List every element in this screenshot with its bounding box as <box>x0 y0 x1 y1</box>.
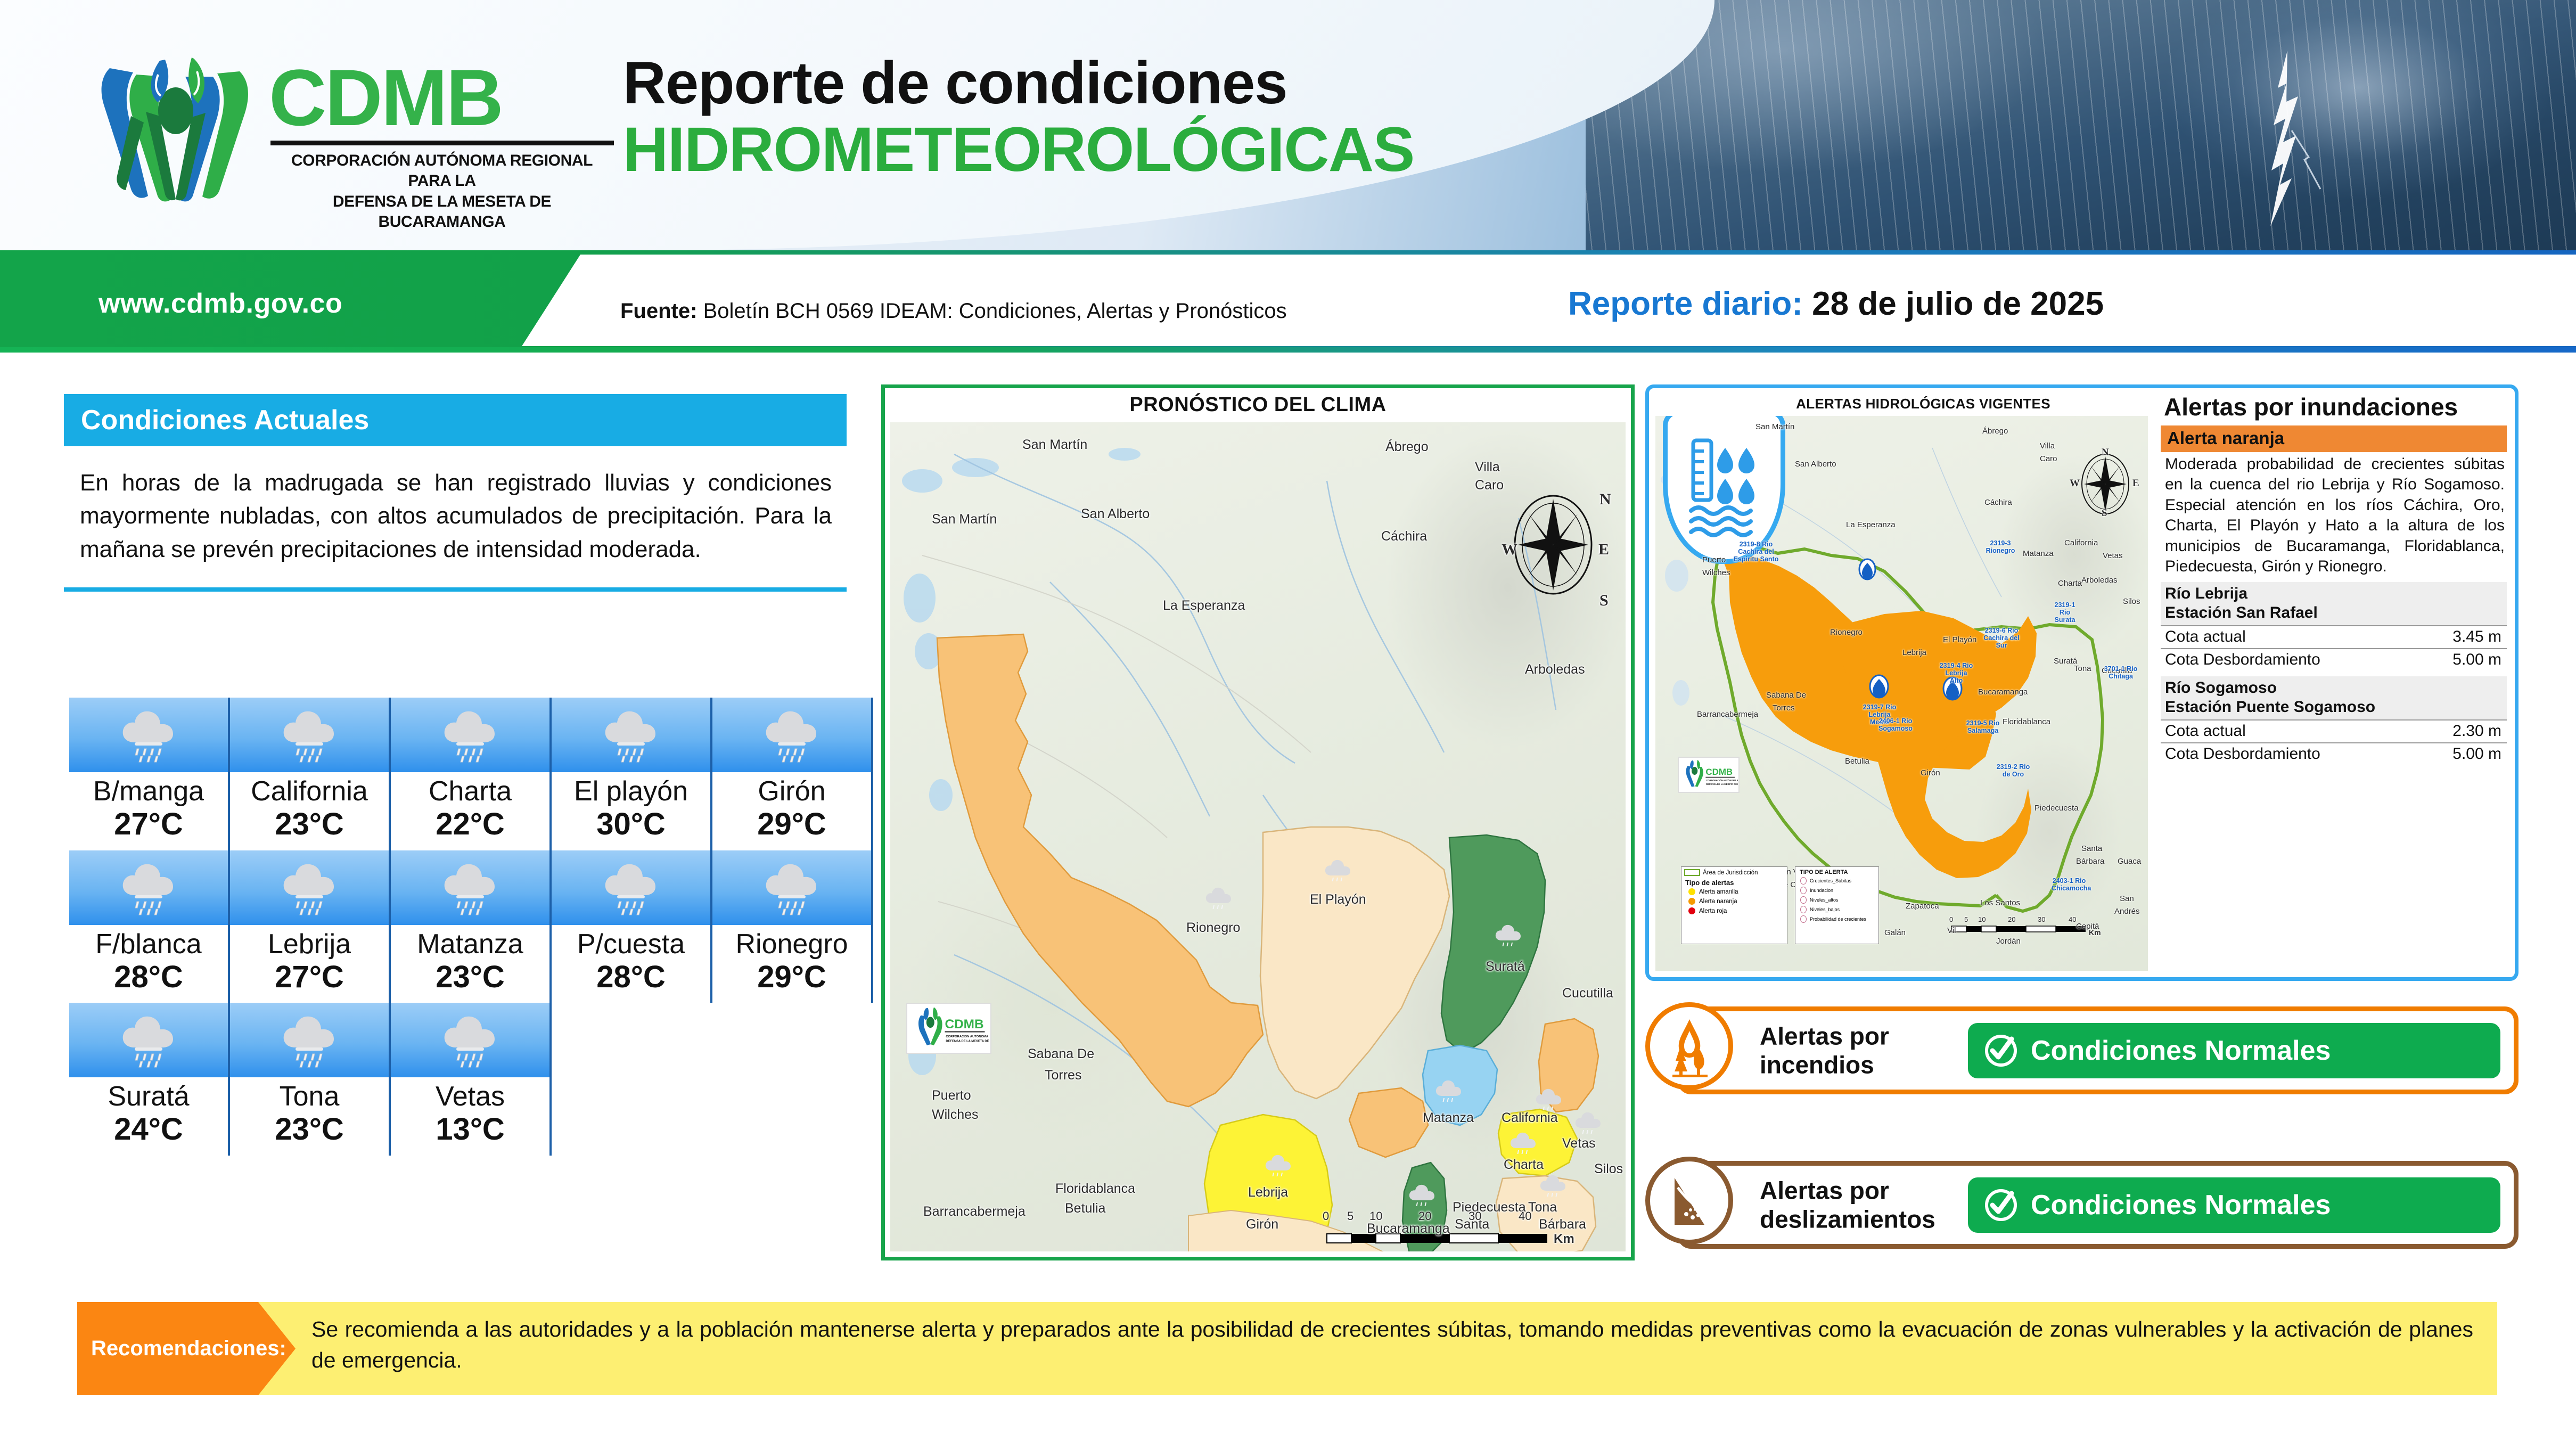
check-circle-icon <box>1982 1186 2020 1224</box>
map-scale-label: 5 <box>1347 1209 1353 1223</box>
map-label: Vetas <box>1562 1136 1596 1151</box>
river-code-label: 2319-4 Rio Lebrija Alto <box>1939 662 1974 684</box>
temperature-cell: Rionegro 29°C <box>712 850 873 1003</box>
compass-north-label: N <box>1599 490 1611 509</box>
map-label: Bucaramanga <box>1367 1221 1450 1237</box>
title-line-1: Reporte de condiciones <box>623 51 1414 116</box>
map-scale-label: 5 <box>1964 915 1968 923</box>
current-conditions-text: En horas de la madrugada se han registra… <box>64 446 847 579</box>
map-label: El Playón <box>1943 635 1976 644</box>
map-scale-label: 40 <box>2069 915 2076 923</box>
map-rain-icon <box>1493 923 1524 951</box>
current-conditions-header: Condiciones Actuales <box>64 394 847 446</box>
temperature-value: 23°C <box>232 1111 387 1148</box>
temperature-grid: B/manga 27°C California 23°C Charta 22°C… <box>69 698 873 1156</box>
station-row: Cota actual 2.30 m <box>2161 719 2507 742</box>
map-label: Silos <box>2123 597 2140 606</box>
map-rain-icon <box>1573 1110 1604 1138</box>
map-label: Matanza <box>1423 1110 1474 1126</box>
row-value: 5.00 m <box>2452 745 2501 763</box>
row-label: Cota Desbordamiento <box>2165 745 2320 763</box>
svg-text:CDMB: CDMB <box>945 1017 984 1032</box>
river-code-label: 3701-1 Rio Chitaga <box>2104 665 2138 680</box>
rain-cloud-icon <box>440 1012 500 1068</box>
temperature-cell-empty <box>552 1003 712 1156</box>
weather-icon-box <box>552 698 712 772</box>
row-label: Cota actual <box>2165 628 2246 646</box>
municipality-name: P/cuesta <box>554 929 708 959</box>
weather-icon-box <box>230 850 391 925</box>
temperature-cell: Vetas 13°C <box>391 1003 552 1156</box>
temperature-cell: Charta 22°C <box>391 698 552 850</box>
map-scale-label: 10 <box>1369 1209 1382 1223</box>
fire-forest-icon <box>1665 1015 1714 1078</box>
map-label: Charta <box>1504 1157 1544 1173</box>
row-value: 2.30 m <box>2452 722 2501 740</box>
landslide-icon <box>1665 1169 1714 1232</box>
temperature-value: 28°C <box>554 959 708 995</box>
legend-swatch-red <box>1688 907 1695 914</box>
hydro-legend-alert-kinds: TIPO DE ALERTA Crecientes_Súbitas Inunda… <box>1795 866 1879 944</box>
map-rain-icon <box>1533 1087 1564 1115</box>
map-rain-icon <box>1538 1173 1569 1201</box>
landslide-status-badge: Condiciones Normales <box>1968 1177 2500 1233</box>
svg-text:CORPORACIÓN AUTÓNOMA REGIONAL: CORPORACIÓN AUTÓNOMA REGIONAL PARA LA <box>1706 779 1738 782</box>
map-scale-label: 0 <box>1949 915 1953 923</box>
map-label: La Esperanza <box>1163 598 1245 613</box>
compass-rose <box>1515 496 1591 594</box>
lightning-icon <box>2241 51 2336 242</box>
map-label: Betulia <box>1065 1201 1105 1216</box>
alert-types-title: Tipo de alertas <box>1685 879 1784 887</box>
map-label: Arboledas <box>2081 576 2118 585</box>
region-playon-south <box>1349 1088 1428 1157</box>
map-label: Sabana De <box>1028 1046 1094 1062</box>
temperature-value: 22°C <box>393 806 547 842</box>
map-label: La Esperanza <box>1846 520 1896 529</box>
check-circle-icon <box>1982 1032 2020 1070</box>
website-url[interactable]: www.cdmb.gov.co <box>99 288 342 320</box>
temperature-value: 27°C <box>232 959 387 995</box>
svg-text:CORPORACIÓN AUTÓNOMA REGIONAL: CORPORACIÓN AUTÓNOMA REGIONAL PARA LA <box>946 1034 989 1038</box>
river-code-label: 2319-3 Rionegro <box>1984 539 2016 554</box>
logo-subtitle-line1: CORPORACIÓN AUTÓNOMA REGIONAL PARA LA <box>269 151 615 192</box>
row-label: Cota Desbordamiento <box>2165 651 2320 669</box>
map-label: Silos <box>1594 1161 1623 1177</box>
rain-cloud-icon <box>119 1012 178 1068</box>
map-label: San Alberto <box>1081 506 1150 522</box>
map-label: Sabana De <box>1766 691 1806 700</box>
kind-label: Niveles_bajos <box>1810 907 1840 912</box>
temperature-value: 27°C <box>71 806 226 842</box>
recommendations-label: Recomendaciones: <box>91 1337 286 1361</box>
map-rain-icon <box>1433 1078 1464 1106</box>
map-label: San Alberto <box>1795 460 1836 469</box>
map-label: Cáchira <box>1381 529 1427 544</box>
map-label: San Martín <box>932 512 997 527</box>
map-label: Andrés <box>2114 907 2140 916</box>
municipality-name: F/blanca <box>71 929 226 959</box>
river-name: Río Sogamoso <box>2165 678 2503 698</box>
map-label: California <box>2064 538 2098 547</box>
kind-label: Inundacion <box>1810 888 1833 893</box>
station-row: Cota Desbordamiento 5.00 m <box>2161 742 2507 765</box>
rain-cloud-icon <box>440 707 500 763</box>
river-name: Río Lebrija <box>2165 584 2503 603</box>
water-level-gauge-icon <box>1687 436 1761 537</box>
weather-icon-box <box>391 850 552 925</box>
temperature-label-box: Matanza 23°C <box>391 925 552 1003</box>
map-label: Rionegro <box>1830 628 1863 637</box>
temperature-label-box: California 23°C <box>230 772 391 850</box>
temperature-label-box: Charta 22°C <box>391 772 552 850</box>
compass-west-label: W <box>1502 541 1517 559</box>
climate-map-title: PRONÓSTICO DEL CLIMA <box>885 388 1631 421</box>
temperature-value: 30°C <box>554 806 708 842</box>
fire-alerts-banner[interactable]: Alertas por incendios Condiciones Normal… <box>1645 1006 2518 1094</box>
svg-text:CDMB: CDMB <box>1705 767 1733 777</box>
map-label: Villa <box>2040 441 2055 451</box>
river-code-label: 2319-1 Rio Surata <box>2048 601 2081 624</box>
temperature-label-box: Lebrija 27°C <box>230 925 391 1003</box>
map-label: Puerto <box>932 1088 971 1103</box>
fire-icon-circle <box>1645 1002 1733 1090</box>
temperature-label-box: Rionegro 29°C <box>712 925 873 1003</box>
weather-icon-box <box>712 698 873 772</box>
landslide-label-line2: deslizamientos <box>1760 1205 1935 1234</box>
temperature-cell: El playón 30°C <box>552 698 712 850</box>
station-block: Río Sogamoso Estación Puente Sogamoso Co… <box>2161 676 2507 765</box>
report-date-line: Reporte diario: 28 de julio de 2025 <box>1568 285 2104 323</box>
temperature-value: 13°C <box>393 1111 547 1148</box>
region-el-playon <box>1260 827 1449 1099</box>
legend-label: Alerta roja <box>1699 908 1727 914</box>
current-conditions-title: Condiciones Actuales <box>81 404 369 436</box>
municipality-name: Tona <box>232 1082 387 1111</box>
map-rain-icon <box>1407 1183 1438 1210</box>
map-rain-icon <box>1263 1153 1294 1181</box>
kind-icon <box>1800 915 1807 923</box>
temperature-cell: Girón 29°C <box>712 698 873 850</box>
title-line-2: HIDROMETEOROLÓGICAS <box>623 116 1414 185</box>
map-label: San Martín <box>1755 422 1794 431</box>
temperature-label-box: Suratá 24°C <box>69 1077 230 1156</box>
river-code-label: 2319-2 Rio de Oro <box>1996 763 2030 778</box>
temperature-cell: Matanza 23°C <box>391 850 552 1003</box>
hydro-map-canvas[interactable]: N S E W San Martín San Alberto Ábrego Vi… <box>1655 416 2148 971</box>
map-label: Guaca <box>2118 857 2141 866</box>
map-label: Los Santos <box>1980 898 2020 907</box>
current-conditions-divider <box>64 587 847 592</box>
map-label: Matanza <box>2023 549 2054 558</box>
municipality-name: Suratá <box>71 1082 226 1111</box>
map-label: San <box>2120 894 2134 903</box>
municipality-name: Matanza <box>393 929 547 959</box>
kind-icon <box>1800 906 1807 913</box>
weather-icon-box <box>230 1003 391 1077</box>
map-label: Piedecuesta <box>2034 804 2079 813</box>
temperature-cell: Lebrija 27°C <box>230 850 391 1003</box>
current-conditions-panel: Condiciones Actuales En horas de la madr… <box>64 394 879 592</box>
climate-forecast-map[interactable]: PRONÓSTICO DEL CLIMA <box>881 384 1635 1260</box>
logo-subtitle-line2: DEFENSA DE LA MESETA DE BUCARAMANGA <box>269 192 615 233</box>
fire-label-line2: incendios <box>1760 1051 1889 1079</box>
map-rain-icon <box>1323 858 1353 886</box>
fire-alerts-label: Alertas por incendios <box>1760 1021 1889 1079</box>
map-label: Cucutilla <box>1562 986 1613 1001</box>
map-label: Barrancabermeja <box>923 1204 1026 1219</box>
map-rain-icon <box>1203 886 1234 913</box>
map-scale-label: 20 <box>2008 915 2015 923</box>
cdmb-logo-mark <box>80 53 272 208</box>
map-label: Lebrija <box>1248 1185 1288 1200</box>
temperature-label-box: El playón 30°C <box>552 772 712 850</box>
weather-icon-box <box>230 698 391 772</box>
temperature-label-box: Tona 23°C <box>230 1077 391 1156</box>
legend-label: Alerta naranja <box>1699 898 1737 905</box>
map-label: Rionegro <box>1186 920 1240 936</box>
legend-swatch-orange <box>1688 898 1695 905</box>
weather-icon-box <box>69 850 230 925</box>
map-label: Cáchira <box>1984 498 2012 507</box>
kind-icon <box>1800 896 1807 904</box>
flood-alert-description: Moderada probabilidad de crecientes súbi… <box>2161 452 2507 577</box>
fire-label-line1: Alertas por <box>1760 1021 1889 1050</box>
alert-kind-title: TIPO DE ALERTA <box>1800 869 1876 875</box>
weather-icon-box <box>69 1003 230 1077</box>
station-name: Estación Puente Sogamoso <box>2165 698 2503 717</box>
map-label: Arboledas <box>1525 662 1585 677</box>
station-row: Cota Desbordamiento 5.00 m <box>2161 648 2507 671</box>
rain-cloud-icon <box>119 707 178 763</box>
flood-alert-level-badge: Alerta naranja <box>2161 425 2507 452</box>
landslide-alerts-label: Alertas por deslizamientos <box>1760 1176 1935 1234</box>
report-date-value: 28 de julio de 2025 <box>1812 285 2104 322</box>
row-value: 3.45 m <box>2452 628 2501 646</box>
report-title: Reporte de condiciones HIDROMETEOROLÓGIC… <box>623 51 1414 185</box>
river-code-label: 2403-1 Rio Chicamocha <box>2052 877 2087 892</box>
climate-map-canvas[interactable]: N S E W San Martín San Martín Ábrego Vil… <box>890 422 1626 1251</box>
map-label: Tona <box>1528 1200 1557 1215</box>
rain-cloud-icon <box>119 860 178 915</box>
map-scale-label: 40 <box>1519 1209 1531 1223</box>
rain-cloud-icon <box>762 860 822 915</box>
map-label: Floridablanca <box>2003 717 2050 726</box>
temperature-label-box: Girón 29°C <box>712 772 873 850</box>
map-label: Jordán <box>1996 937 2021 946</box>
municipality-name: B/manga <box>71 776 226 806</box>
rain-cloud-icon <box>601 707 661 763</box>
map-label: Bárbara <box>1539 1217 1586 1232</box>
kind-icon <box>1800 887 1807 894</box>
map-label: San Martín <box>1022 437 1087 453</box>
source-text: Fuente: Boletín BCH 0569 IDEAM: Condicio… <box>620 299 1287 323</box>
map-label: Caro <box>2040 454 2057 463</box>
temperature-label-box: B/manga 27°C <box>69 772 230 850</box>
map-label: Caro <box>1475 478 1504 493</box>
map-label: Bárbara <box>2076 857 2104 866</box>
map-label: Vil <box>1947 926 1956 935</box>
temperature-value: 23°C <box>393 959 547 995</box>
map-scale-bar <box>1951 926 2086 932</box>
station-row: Cota actual 3.45 m <box>2161 625 2507 648</box>
map-label: Charta <box>2058 579 2082 588</box>
map-label: Betulia <box>1845 757 1869 766</box>
kind-label: Niveles_altos <box>1810 897 1839 903</box>
landslide-label-line1: Alertas por <box>1760 1176 1935 1205</box>
municipality-name: Charta <box>393 776 547 806</box>
logo-acronym: CDMB <box>269 58 615 137</box>
map-label: Girón <box>1246 1217 1278 1232</box>
kind-label: Probabilidad de crecientes <box>1810 916 1866 922</box>
jurisdiction-label: Área de Jurisdicción <box>1703 870 1758 876</box>
landslide-icon-circle <box>1645 1157 1733 1245</box>
map-label: Santa <box>2081 844 2102 853</box>
flood-alerts-column: Alertas por inundaciones Alerta naranja … <box>2152 388 2514 977</box>
map-label: Tona <box>2074 664 2091 673</box>
map-label: Torres <box>1773 703 1795 713</box>
temperature-value: 29°C <box>715 959 869 995</box>
map-label: Vetas <box>2103 551 2123 560</box>
municipality-name: Rionegro <box>715 929 869 959</box>
temperature-value: 29°C <box>715 806 869 842</box>
rain-cloud-icon <box>280 860 339 915</box>
temperature-label-box: Vetas 13°C <box>391 1077 552 1156</box>
map-scale-unit: Km <box>2089 928 2101 937</box>
map-scale-label: 20 <box>1418 1209 1431 1223</box>
temperature-cell: California 23°C <box>230 698 391 850</box>
source-detail: Boletín BCH 0569 IDEAM: Condiciones, Ale… <box>703 299 1287 323</box>
map-scale-label: 10 <box>1978 915 1986 923</box>
fire-status-text: Condiciones Normales <box>2031 1035 2331 1067</box>
map-rain-icon <box>1508 1131 1539 1158</box>
kind-icon <box>1800 877 1807 885</box>
temperature-value: 28°C <box>71 959 226 995</box>
info-bar-underline <box>0 347 2576 353</box>
svg-text:DEFENSA DE LA MESETA DE BUCARA: DEFENSA DE LA MESETA DE BUCARAMANGA <box>946 1039 989 1043</box>
row-value: 5.00 m <box>2452 651 2501 669</box>
temperature-cell: B/manga 27°C <box>69 698 230 850</box>
map-label: Puerto <box>1702 555 1726 564</box>
hydro-map-column[interactable]: ALERTAS HIDROLÓGICAS VIGENTES <box>1649 388 2152 977</box>
page-header: CDMB CORPORACIÓN AUTÓNOMA REGIONAL PARA … <box>0 0 2576 250</box>
rain-texture <box>1586 0 2576 250</box>
temperature-cell: Suratá 24°C <box>69 1003 230 1156</box>
river-code-label: 2319-5 Rio Salamaga <box>1964 719 2001 734</box>
compass-rose <box>2082 454 2129 514</box>
temperature-cell: P/cuesta 28°C <box>552 850 712 1003</box>
map-label: Lebrija <box>1902 648 1926 657</box>
legend-swatch-yellow <box>1688 888 1695 895</box>
map-label: Galán <box>1884 928 1906 937</box>
recommendations-label-tab: Recomendaciones: <box>77 1302 296 1395</box>
station-block: Río Lebrija Estación San Rafael Cota act… <box>2161 582 2507 671</box>
landslide-status-text: Condiciones Normales <box>2031 1189 2331 1221</box>
river-code-label: 2319-8 Rio Cachira del Espiritu Santo <box>1733 541 1779 563</box>
flood-alerts-heading: Alertas por inundaciones <box>2161 394 2507 421</box>
map-label: Villa <box>1475 460 1500 475</box>
map-label: Piedecuesta <box>1453 1200 1526 1215</box>
municipality-name: Lebrija <box>232 929 387 959</box>
row-label: Cota actual <box>2165 722 2246 740</box>
map-label: Torres <box>1045 1068 1081 1083</box>
map-label: Bucaramanga <box>1978 687 2028 697</box>
map-scale-label: 30 <box>1469 1209 1481 1223</box>
alert-marker <box>1859 559 1875 579</box>
municipality-name: California <box>232 776 387 806</box>
map-label: Ábrego <box>1385 439 1429 455</box>
temperature-value: 24°C <box>71 1111 226 1148</box>
station-name: Estación San Rafael <box>2165 603 2503 623</box>
map-label: Suratá <box>1486 959 1525 975</box>
rain-cloud-icon <box>762 707 822 763</box>
map-label: Barrancabermeja <box>1697 710 1758 719</box>
temperature-value: 23°C <box>232 806 387 842</box>
map-label: Girón <box>1921 768 1940 777</box>
source-label: Fuente: <box>620 299 697 323</box>
temperature-cell: F/blanca 28°C <box>69 850 230 1003</box>
river-code-label: 2406-1 Rio Sogamoso <box>1878 717 1913 732</box>
jurisdiction-swatch <box>1684 869 1700 876</box>
hydro-legend-alert-types: Área de Jurisdicción Tipo de alertas Ale… <box>1681 866 1787 944</box>
fire-status-badge: Condiciones Normales <box>1968 1023 2500 1078</box>
svg-text:DEFENSA DE LA MESETA DE BUCARA: DEFENSA DE LA MESETA DE BUCARAMANGA <box>1706 783 1738 785</box>
compass-north-label: N <box>2102 447 2109 459</box>
rain-cloud-icon <box>601 860 661 915</box>
weather-icon-box <box>712 850 873 925</box>
rain-cloud-icon <box>280 1012 339 1068</box>
station-header: Río Lebrija Estación San Rafael <box>2161 582 2507 625</box>
temperature-label-box: P/cuesta 28°C <box>552 925 712 1003</box>
map-label: Floridablanca <box>1055 1181 1135 1197</box>
compass-south-label: S <box>1599 592 1609 610</box>
municipality-name: Vetas <box>393 1082 547 1111</box>
temperature-label-box: F/blanca 28°C <box>69 925 230 1003</box>
temperature-cell: Tona 23°C <box>230 1003 391 1156</box>
recommendations-text: Se recomienda a las autoridades y a la p… <box>311 1314 2473 1376</box>
map-label: Ábrego <box>1982 427 2008 436</box>
map-label: El Playón <box>1310 892 1366 907</box>
hydro-map-title: ALERTAS HIDROLÓGICAS VIGENTES <box>1721 396 2126 412</box>
map-scale-unit: Km <box>1554 1232 1574 1247</box>
weather-icon-box <box>391 698 552 772</box>
legend-label: Alerta amarilla <box>1699 889 1738 895</box>
map-scale-label: 0 <box>1323 1209 1329 1223</box>
weather-icon-box <box>552 850 712 925</box>
weather-icon-box <box>391 1003 552 1077</box>
rain-cloud-icon <box>280 707 339 763</box>
recommendations-bar: Recomendaciones: Se recomienda a las aut… <box>77 1302 2497 1395</box>
alert-marker <box>1870 675 1888 698</box>
rain-cloud-icon <box>440 860 500 915</box>
station-header: Río Sogamoso Estación Puente Sogamoso <box>2161 676 2507 719</box>
report-date-label: Reporte diario: <box>1568 285 1803 322</box>
cdmb-logo: CDMB CORPORACIÓN AUTÓNOMA REGIONAL PARA … <box>80 47 623 212</box>
municipality-name: Girón <box>715 776 869 806</box>
map-label: Wilches <box>1702 568 1730 577</box>
compass-south-label: S <box>2102 507 2107 519</box>
hydrological-alerts-panel: ALERTAS HIDROLÓGICAS VIGENTES <box>1645 384 2518 981</box>
kind-label: Crecientes_Súbitas <box>1810 878 1851 883</box>
landslide-alerts-banner[interactable]: Alertas por deslizamientos Condiciones N… <box>1645 1161 2518 1249</box>
map-cdmb-logo: CDMBCORPORACIÓN AUTÓNOMA REGIONAL PARA L… <box>1678 757 1740 793</box>
weather-icon-box <box>69 698 230 772</box>
storm-photo <box>1586 0 2576 250</box>
compass-west-label: W <box>2070 478 2080 489</box>
map-label: Zapatoca <box>1906 902 1939 911</box>
temperature-cell-empty <box>712 1003 873 1156</box>
map-scale-label: 30 <box>2038 915 2045 923</box>
